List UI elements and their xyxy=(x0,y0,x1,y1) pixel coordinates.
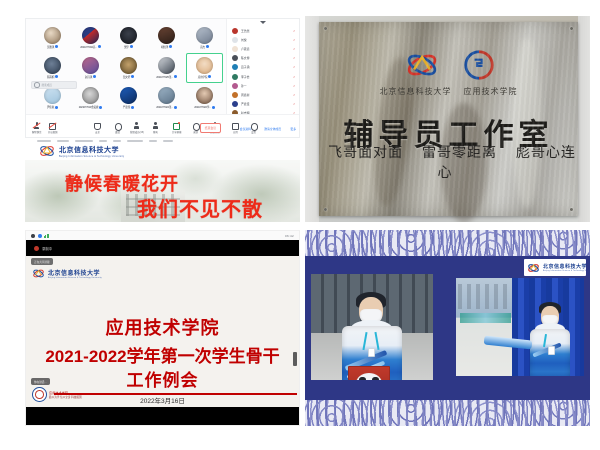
mic-icon xyxy=(93,75,96,78)
mic-icon xyxy=(174,106,177,109)
mic-icon xyxy=(208,75,211,78)
avatar xyxy=(232,28,238,34)
slide-scrollbar[interactable] xyxy=(293,352,297,366)
avatar xyxy=(232,92,238,98)
mic-muted-icon: ⌿ xyxy=(293,84,295,88)
toolbar-apps-button[interactable]: 应用 xyxy=(232,122,239,134)
speaking-label: 你在讲话... xyxy=(34,380,47,384)
university-name-cn: 北京信息科技大学 xyxy=(59,145,124,155)
phone-ppt-screenshot: 06:42 录制中 正在共享屏幕 北京信息科技大学 Beijing Inform… xyxy=(25,230,300,426)
plaque-subtitle: 北京信息科技大学 应用技术学院 xyxy=(319,86,578,97)
slide-divider xyxy=(54,393,297,395)
participant-list-item[interactable]: 陈文博⌿ xyxy=(227,54,299,63)
screw xyxy=(324,208,327,211)
participant-name: 孙一 xyxy=(241,84,290,88)
avatar xyxy=(82,57,99,74)
mic-muted-icon: ⌿ xyxy=(293,75,295,79)
participant-tile[interactable]: 樊宇 xyxy=(110,23,147,52)
bistu-logo-lockup: 北京信息科技大学 Beijing Information Science & T… xyxy=(25,143,300,158)
participant-tile[interactable]: 2021077022李... xyxy=(186,84,223,113)
participant-list-item[interactable]: 孙一⌿ xyxy=(227,81,299,90)
slide-logo-text: 北京信息科技大学 Beijing Information Science & T… xyxy=(48,268,102,279)
metal-plaque: 北京信息科技大学 应用技术学院 辅导员工作室 飞哥面对面 雷哥零距离 彪哥心连心 xyxy=(319,22,578,216)
photo-collage: 吴雅琪 2021077034高... 樊宇 胡悦泽 高杰 xyxy=(0,0,600,450)
wall-right xyxy=(578,16,590,222)
participant-list-item[interactable]: 刘悦⌿ xyxy=(227,35,299,44)
slide-heading-2: 2021-2022学年第一次学生骨干 xyxy=(26,342,299,367)
member-search-input[interactable]: 搜索成员 xyxy=(31,81,77,89)
video-meeting-screenshot: 吴雅琪 2021077034高... 樊宇 胡悦泽 高杰 xyxy=(25,18,300,138)
slide-logo-lockup: 北京信息科技大学 Beijing Information Science & T… xyxy=(32,268,102,279)
meeting-toolbar: 解除静音 开启视频 安全 邀请 管理成员(15) 聊天 xyxy=(26,114,299,137)
meeting-video-stage: 吴雅琪 2021077034高... 樊宇 胡悦泽 高杰 xyxy=(26,19,227,115)
plaque-logos xyxy=(319,50,578,80)
toolbar-members-button[interactable]: 管理成员(15) xyxy=(130,122,144,134)
screw xyxy=(324,27,327,30)
college-emblem-icon xyxy=(463,50,495,80)
participant-name: 王浩然 xyxy=(241,29,290,33)
mic-muted-icon: ⌿ xyxy=(293,56,295,60)
footer-motto: 勤以为学 信以立身 科技报国 xyxy=(49,395,82,399)
banner-text-block: 北京信息科技大学 Beijing Information Science & T… xyxy=(59,145,124,158)
badge-text: 北京信息科技大学 Beijing Information Science & T… xyxy=(543,263,586,272)
shield-icon xyxy=(94,122,101,129)
avatar xyxy=(196,27,213,44)
participant-name: 2021077024张... xyxy=(156,105,176,109)
phone-letterbox xyxy=(26,407,299,425)
avatar xyxy=(158,27,175,44)
participant-tile[interactable]: 2021077013金昊霖 xyxy=(72,84,109,113)
participant-name: 2021077034高... xyxy=(80,45,100,49)
mic-muted-icon: ⌿ xyxy=(293,65,295,69)
chevron-down-icon xyxy=(260,21,266,24)
avatar xyxy=(232,37,238,43)
avatar xyxy=(44,57,61,74)
plaque-slogan-1: 飞哥面对面 xyxy=(328,144,403,160)
bistu-logo-icon xyxy=(527,262,540,274)
more-link[interactable]: 更多 xyxy=(290,125,296,133)
participant-tile[interactable]: 2021077034高... xyxy=(72,23,109,52)
screen-share-label: 正在共享屏幕 xyxy=(34,260,50,264)
status-time: 06:42 xyxy=(285,234,294,238)
avatar xyxy=(120,57,137,74)
mic-icon xyxy=(55,45,58,48)
participant-avatar-grid: 吴雅琪 2021077034高... 樊宇 胡悦泽 高杰 xyxy=(34,23,223,113)
slogan-line-2: 我们不见不散 xyxy=(137,193,263,222)
mic-icon xyxy=(131,106,134,109)
participants-sidebar: 王浩然⌿ 刘悦⌿ 卢思远⌿ 陈文博⌿ 吕子涵⌿ 李子怡⌿ 孙一⌿ 周嘉树⌿ 严嘉… xyxy=(226,19,299,115)
search-placeholder: 搜索成员 xyxy=(42,83,52,87)
participant-name: 陈文博 xyxy=(241,56,290,60)
mic-icon xyxy=(55,75,58,78)
meeting-materials-link[interactable]: 会议资料 xyxy=(240,125,251,133)
department-plaque-photo: 北京信息科技大学 应用技术学院 辅导员工作室 飞哥面对面 雷哥零距离 彪哥心连心 xyxy=(305,16,590,222)
avatar xyxy=(196,57,213,74)
participant-list-item[interactable]: 吕子涵⌿ xyxy=(227,63,299,72)
search-icon xyxy=(34,82,40,88)
mic-icon xyxy=(206,45,209,48)
participant-name: 尹佳航 xyxy=(47,105,58,109)
mic-icon xyxy=(98,45,101,48)
participant-tile[interactable]: 陈雨桐 xyxy=(34,53,71,82)
mic-icon xyxy=(169,45,172,48)
university-name-en: Beijing Information Science & Technology… xyxy=(543,270,586,272)
participant-tile[interactable]: 赵诗琪 xyxy=(72,53,109,82)
participant-name: 卢思远 xyxy=(241,47,290,51)
mic-icon xyxy=(131,75,134,78)
wall-left xyxy=(305,16,319,222)
avatar xyxy=(82,27,99,44)
arena-interior xyxy=(456,278,515,376)
olympic-volunteer-photo: 北京信息科技大学 Beijing Information Science & T… xyxy=(305,230,590,426)
toolbar-settings-button[interactable]: 设置 xyxy=(250,122,257,134)
plaque-slogan-3: 彪哥心连心 xyxy=(438,144,576,180)
participant-tile[interactable]: 胡悦泽 xyxy=(148,23,185,52)
credential-card xyxy=(368,348,375,357)
decorative-pattern-top xyxy=(305,230,590,256)
mic-muted-icon: ⌿ xyxy=(293,47,295,51)
reflection xyxy=(512,38,542,208)
end-meeting-button[interactable]: 结束会议 xyxy=(200,123,221,133)
bistu-logo-icon xyxy=(39,144,55,158)
slide-footer-text: 应用技术学院 勤以为学 信以立身 科技报国 xyxy=(49,391,82,399)
screen-share-chip[interactable]: 正在共享屏幕 xyxy=(31,258,53,265)
participant-tile[interactable]: 2021077024张... xyxy=(148,84,185,113)
participant-name: 高杰 xyxy=(200,45,209,49)
reflection xyxy=(368,56,417,209)
camera-off-icon xyxy=(49,122,56,129)
college-seal-icon xyxy=(32,387,47,402)
participant-list-item[interactable]: 周嘉树⌿ xyxy=(227,90,299,99)
screw xyxy=(570,208,573,211)
participant-name: 赵诗琪 xyxy=(85,75,96,79)
plaque-college-name: 应用技术学院 xyxy=(464,87,518,96)
recording-label: 录制中 xyxy=(42,246,52,251)
participant-name: 严嘉佳 xyxy=(241,102,290,106)
participant-name: 周嘉树 xyxy=(241,93,290,97)
participant-name: 刘悦 xyxy=(241,38,290,42)
slide-footer: 应用技术学院 勤以为学 信以立身 科技报国 xyxy=(32,387,82,402)
participant-name: 李子怡 xyxy=(241,75,290,79)
toolbar-camera-off-button[interactable]: 开启视频 xyxy=(48,122,58,134)
participant-tile[interactable]: 吴雅琪 xyxy=(34,23,71,52)
credential-card xyxy=(548,346,555,355)
volunteer-figure xyxy=(335,292,409,380)
bistu-logo-icon xyxy=(403,50,441,80)
avatar xyxy=(44,87,61,104)
mic-off-icon xyxy=(33,122,40,129)
avatar xyxy=(232,46,238,52)
avatar xyxy=(158,57,175,74)
status-icons xyxy=(31,234,49,238)
university-name-cn: 北京信息科技大学 xyxy=(48,268,102,277)
bistu-watermark-badge: 北京信息科技大学 Beijing Information Science & T… xyxy=(524,259,586,276)
apps-icon xyxy=(232,122,239,129)
app-icon xyxy=(31,234,35,238)
participant-name: 胡悦泽 xyxy=(161,45,172,49)
avatar xyxy=(232,74,238,80)
record-icon xyxy=(192,122,199,129)
participant-name: 2021077025张... xyxy=(156,75,176,79)
frame-band-bottom xyxy=(305,388,590,400)
plaque-slogans: 飞哥面对面 雷哥零距离 彪哥心连心 xyxy=(319,142,578,182)
participant-tile[interactable]: 严嘉佳 xyxy=(110,84,147,113)
sidebar-collapse-toggle[interactable] xyxy=(227,19,299,26)
participant-name: 应用学院 xyxy=(198,75,212,79)
participant-list-item[interactable]: 严嘉佳⌿ xyxy=(227,100,299,109)
reflection xyxy=(441,103,487,222)
campus-slogan-photo: 静候春暖花开 我们不见不散 xyxy=(25,160,300,222)
participant-name: 2021077013金昊霖 xyxy=(79,105,103,109)
avatar xyxy=(232,101,238,107)
invite-icon xyxy=(114,122,121,129)
mascot-gift-box xyxy=(348,366,390,380)
recording-bar: 录制中 xyxy=(26,240,299,256)
mic-icon xyxy=(99,106,102,109)
participant-tile[interactable]: 温文轩 xyxy=(110,53,147,82)
avatar xyxy=(232,55,238,61)
participant-name: 温文轩 xyxy=(123,75,134,79)
university-name-en: Beijing Information Science & Technology… xyxy=(48,277,102,279)
screw xyxy=(570,27,573,30)
invite-all-link[interactable]: 邀请全体成员 xyxy=(264,125,281,133)
record-icon xyxy=(34,246,39,251)
university-banner: 北京信息科技大学 Beijing Information Science & T… xyxy=(25,138,300,160)
chat-icon xyxy=(152,122,159,129)
slide-heading-1: 应用技术学院 xyxy=(26,314,299,340)
mic-icon xyxy=(174,75,177,78)
bistu-logo-icon xyxy=(32,268,45,279)
participant-list-item[interactable]: 卢思远⌿ xyxy=(227,44,299,53)
avatar xyxy=(120,87,137,104)
mic-muted-icon: ⌿ xyxy=(293,38,295,42)
toolbar-security-button[interactable]: 安全 xyxy=(94,122,101,134)
volunteer-photo-right xyxy=(456,278,584,376)
mic-icon xyxy=(212,106,215,109)
members-icon xyxy=(133,122,140,129)
decorative-pattern-bottom xyxy=(305,400,590,426)
participant-list-item[interactable]: 王浩然⌿ xyxy=(227,26,299,35)
participant-name: 2021077022李... xyxy=(194,105,214,109)
toolbar-invite-button[interactable]: 邀请 xyxy=(114,122,121,134)
avatar xyxy=(232,83,238,89)
bluetooth-icon xyxy=(38,234,42,238)
avatar xyxy=(232,64,238,70)
avatar xyxy=(120,27,137,44)
toolbar-record-button[interactable]: 录制 xyxy=(192,122,199,134)
participant-name: 陈雨桐 xyxy=(47,75,58,79)
volunteer-photo-left xyxy=(311,274,433,380)
avatar xyxy=(196,87,213,104)
avatar xyxy=(158,87,175,104)
participant-tile[interactable]: 高杰 xyxy=(186,23,223,52)
participant-name: 严嘉佳 xyxy=(123,105,134,109)
volunteer-figure xyxy=(524,302,576,376)
participant-tile-active-speaker[interactable]: 应用学院 xyxy=(186,53,223,82)
bing-dwen-dwen-mascot xyxy=(356,373,382,380)
participant-tile[interactable]: 2021077025张... xyxy=(148,53,185,82)
participant-name: 吕子涵 xyxy=(241,65,290,69)
mic-muted-icon: ⌿ xyxy=(293,29,295,33)
plaque-slogan-2: 雷哥零距离 xyxy=(422,144,497,160)
mic-icon xyxy=(55,106,58,109)
avatar xyxy=(44,27,61,44)
avatar xyxy=(82,87,99,104)
toolbar-share-screen-button[interactable]: 共享屏幕 xyxy=(172,122,182,134)
phone-status-bar: 06:42 xyxy=(26,231,299,240)
university-name-en: Beijing Information Science & Technology… xyxy=(59,155,124,158)
participant-name: 樊宇 xyxy=(124,45,133,49)
plaque-title: 辅导员工作室 xyxy=(319,110,578,154)
mic-muted-icon: ⌿ xyxy=(293,102,295,106)
gear-icon xyxy=(250,122,257,129)
participant-name: 吴雅琪 xyxy=(47,45,58,49)
toolbar-chat-button[interactable]: 聊天 xyxy=(152,122,159,134)
speaking-indicator[interactable]: 你在讲话... xyxy=(31,378,50,385)
toolbar-mic-off-button[interactable]: 解除静音 xyxy=(32,122,42,134)
signal-icon xyxy=(44,234,49,238)
ppt-slide: 正在共享屏幕 北京信息科技大学 Beijing Information Scie… xyxy=(26,256,299,407)
university-name-cn: 北京信息科技大学 xyxy=(543,263,586,270)
mic-icon xyxy=(130,45,133,48)
mic-muted-icon: ⌿ xyxy=(293,93,295,97)
plaque-university-name: 北京信息科技大学 xyxy=(380,87,452,96)
participant-list-item[interactable]: 李子怡⌿ xyxy=(227,72,299,81)
share-screen-icon xyxy=(173,122,180,129)
